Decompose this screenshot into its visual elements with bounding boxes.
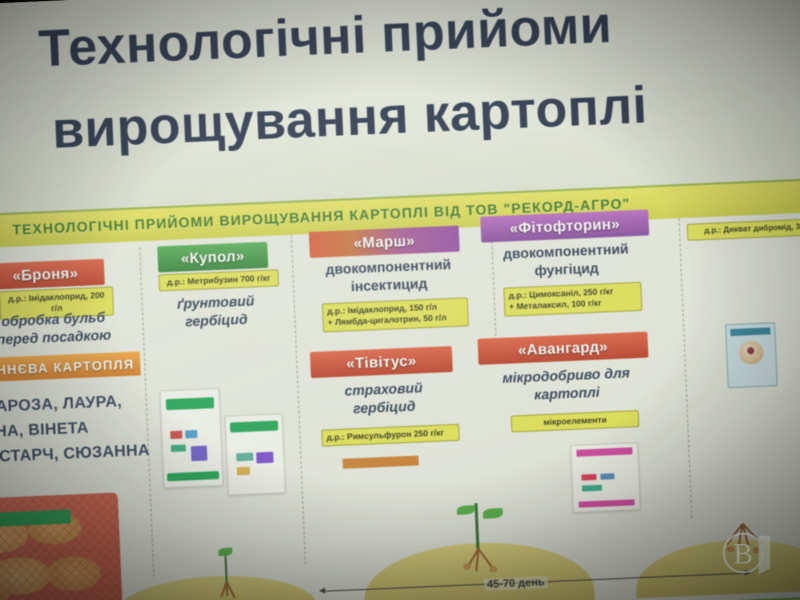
product-package-kupol-a [159, 388, 223, 488]
growth-timeline-illustration: до сходів 18-21 день 45-70 день [0, 487, 800, 600]
active-ingredient-fitoftoryn: д.р.: Цимоксаніл, 250 г/кг + Металаксил,… [503, 282, 642, 317]
watermark-letter: B [733, 539, 752, 571]
product-description-kupol: ґрунтовий гербіцид [153, 291, 278, 331]
screenshot-root: Технологічні прийоми вирощування картопл… [0, 0, 800, 600]
package-header [730, 327, 771, 336]
package-tile [236, 453, 253, 462]
plant-stem [224, 554, 227, 584]
product-name-fitoftoryn: «Фітофторин» [509, 215, 620, 237]
product-description-avangard: мікродобриво для картоплі [473, 363, 660, 406]
seed-potato-label: НАСІННЄВА КАРТОПЛЯ [0, 356, 135, 378]
decor-label-orange [342, 456, 418, 469]
active-ingredient-tivitus: д.р.: Римсульфурон 250 г/кг [321, 424, 460, 447]
package-tile [191, 445, 208, 461]
product-package-desikant [725, 322, 778, 388]
channel-watermark-icon: B [716, 522, 778, 584]
package-band-magenta [577, 447, 633, 456]
product-name-marsh: «Марш» [353, 232, 415, 252]
plant-mature-stage2 [454, 500, 504, 588]
product-chip-marsh[interactable]: «Марш» [309, 226, 460, 258]
potato-eye [747, 347, 754, 355]
package-band-top [230, 421, 277, 432]
package-tile [256, 452, 273, 464]
active-ingredient-avangard: мікроелементи [511, 410, 640, 433]
active-ingredient-kupol: д.р.: Метрибузин 700 г/кг [158, 269, 279, 292]
product-chip-kupol[interactable]: «Купол» [157, 242, 268, 273]
product-name-avangard: «Авангард» [518, 338, 608, 359]
plant-sprout-stage1 [210, 547, 242, 600]
seed-potato-band: НАСІННЄВА КАРТОПЛЯ [0, 351, 141, 383]
product-description-marsh: двокомпонентний інсектицид [298, 255, 479, 298]
package-band-bottom [167, 471, 218, 482]
active-ingredient-desikant: д.р.: Дикват дибромід, 300 г/л [687, 217, 800, 240]
product-package-kupol-b [225, 413, 286, 495]
product-chip-tivitus[interactable]: «Тівітус» [310, 346, 453, 378]
package-tile [237, 467, 251, 475]
plant-leaf [457, 505, 475, 515]
package-tile [600, 473, 615, 480]
product-chip-avangard[interactable]: «Авангард» [477, 332, 648, 365]
package-tile [582, 484, 602, 491]
plant-leaf [483, 508, 503, 519]
product-name-bronya: «Броня» [12, 264, 78, 284]
potato-graphic [739, 341, 763, 364]
product-description-bronya: обробка бульб перед посадкою [0, 308, 133, 350]
projected-slide: Технологічні прийоми вирощування картопл… [0, 0, 800, 600]
seed-potato-varieties: БЕЛЛАРОЗА, ЛАУРА, РІВІАНА, ВІНЕТА ЄВРОСТ… [0, 389, 152, 472]
active-ingredient-marsh: д.р.: Імідаклоприд, 150 г/л + Лямбда-циг… [322, 297, 469, 332]
product-name-tivitus: «Тівітус» [346, 352, 417, 372]
product-name-kupol: «Купол» [181, 247, 245, 267]
plant-tuber [489, 566, 497, 572]
plant-stem [474, 501, 479, 549]
plant-tuber [463, 563, 471, 569]
package-tile [185, 430, 197, 438]
product-description-fitoftoryn: двокомпонентний фунгіцид [478, 239, 655, 281]
slide-content-area: «Броня» д.р.: Імідаклоприд, 200 г/л обро… [0, 211, 800, 600]
column-divider-3 [491, 226, 497, 346]
plant-leaf [218, 548, 232, 557]
package-band-top [165, 397, 214, 411]
product-description-tivitus: страховий гербіцид [307, 378, 460, 419]
product-chip-bronya[interactable]: «Броня» [0, 259, 105, 290]
package-tile [170, 431, 182, 439]
slide-title-line1: Технологічні прийоми [37, 0, 613, 79]
package-tile [171, 444, 186, 452]
column-divider-4 [678, 218, 692, 518]
slide-title-line2: вирощування картоплі [51, 75, 649, 160]
package-tile [582, 474, 597, 481]
